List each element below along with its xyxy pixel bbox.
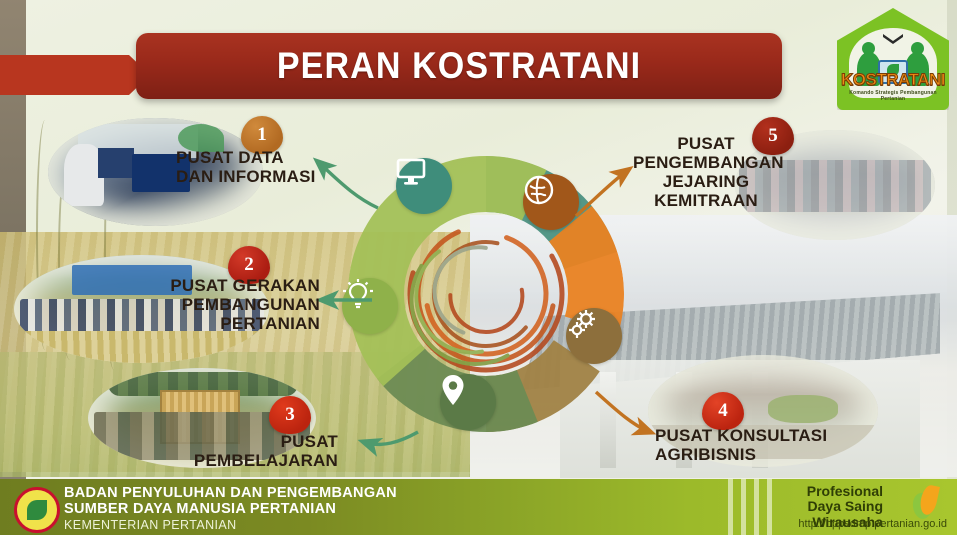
slogan-line: Daya Saing [807, 499, 883, 514]
role-label-line: JEJARING [633, 172, 779, 191]
footer-ministry: KEMENTERIAN PERTANIAN [64, 517, 397, 533]
role-label-5: PUSAT PENGEMBANGAN JEJARING KEMITRAAN [633, 134, 779, 210]
footer-org-line2: SUMBER DAYA MANUSIA PERTANIAN [64, 501, 397, 517]
footer-separator-bars [728, 479, 772, 535]
role-label-line: PUSAT KONSULTASI [655, 426, 827, 445]
page-title: PERAN KOSTRATANI [277, 45, 641, 87]
role-label-line: PUSAT GERAKAN [150, 276, 320, 295]
title-banner-tail [0, 55, 150, 95]
slogan-line: Profesional [807, 484, 883, 499]
title-banner: PERAN KOSTRATANI [136, 33, 782, 99]
infographic-canvas: PERAN KOSTRATANI KOSTRATANI Komando Stra… [0, 0, 957, 535]
role-number-badge[interactable]: 3 [269, 396, 311, 434]
role-label-line: KEMITRAAN [633, 191, 779, 210]
footer-url[interactable]: http://bppsdmp.pertanian.go.id [798, 518, 947, 530]
kementerian-pertanian-seal [14, 487, 60, 533]
role-label-line: PENGEMBANGAN [633, 153, 779, 172]
role-label-4: PUSAT KONSULTASI AGRIBISNIS [655, 426, 827, 464]
role-label-line: PEMBELAJARAN [178, 451, 338, 470]
flame-leaf-icon [911, 485, 945, 519]
kostratani-logo: KOSTRATANI Komando Strategis Pembangunan… [837, 8, 949, 110]
footer-org-text: BADAN PENYULUHAN DAN PENGEMBANGAN SUMBER… [64, 485, 397, 534]
role-label-line: PERTANIAN [150, 314, 320, 333]
role-label-1: PUSAT DATA DAN INFORMASI [176, 148, 316, 186]
role-label-line: DAN INFORMASI [176, 167, 316, 186]
footer-bar: BADAN PENYULUHAN DAN PENGEMBANGAN SUMBER… [0, 479, 957, 535]
gears-icon[interactable] [566, 308, 622, 364]
role-label-2: PUSAT GERAKAN PEMBANGUNAN PERTANIAN [150, 276, 320, 333]
map-pin-icon[interactable] [440, 374, 496, 430]
role-label-line: PUSAT DATA [176, 148, 316, 167]
lightbulb-icon[interactable] [342, 278, 398, 334]
footer-org-line1: BADAN PENYULUHAN DAN PENGEMBANGAN [64, 485, 397, 501]
role-label-line: PEMBANGUNAN [150, 295, 320, 314]
role-label-line: PUSAT [178, 432, 338, 451]
kostratani-role-wheel [348, 156, 624, 432]
role-label-line: AGRIBISNIS [655, 445, 827, 464]
globe-icon[interactable] [523, 174, 579, 230]
logo-wordmark: KOSTRATANI [837, 70, 949, 90]
leaf-icon [27, 500, 47, 520]
role-number-badge[interactable]: 4 [702, 392, 744, 430]
role-label-3: PUSAT PEMBELAJARAN [178, 432, 338, 470]
monitor-icon[interactable] [396, 158, 452, 214]
role-label-line: PUSAT [633, 134, 779, 153]
logo-tagline: Komando Strategis Pembangunan Pertanian [837, 90, 949, 102]
